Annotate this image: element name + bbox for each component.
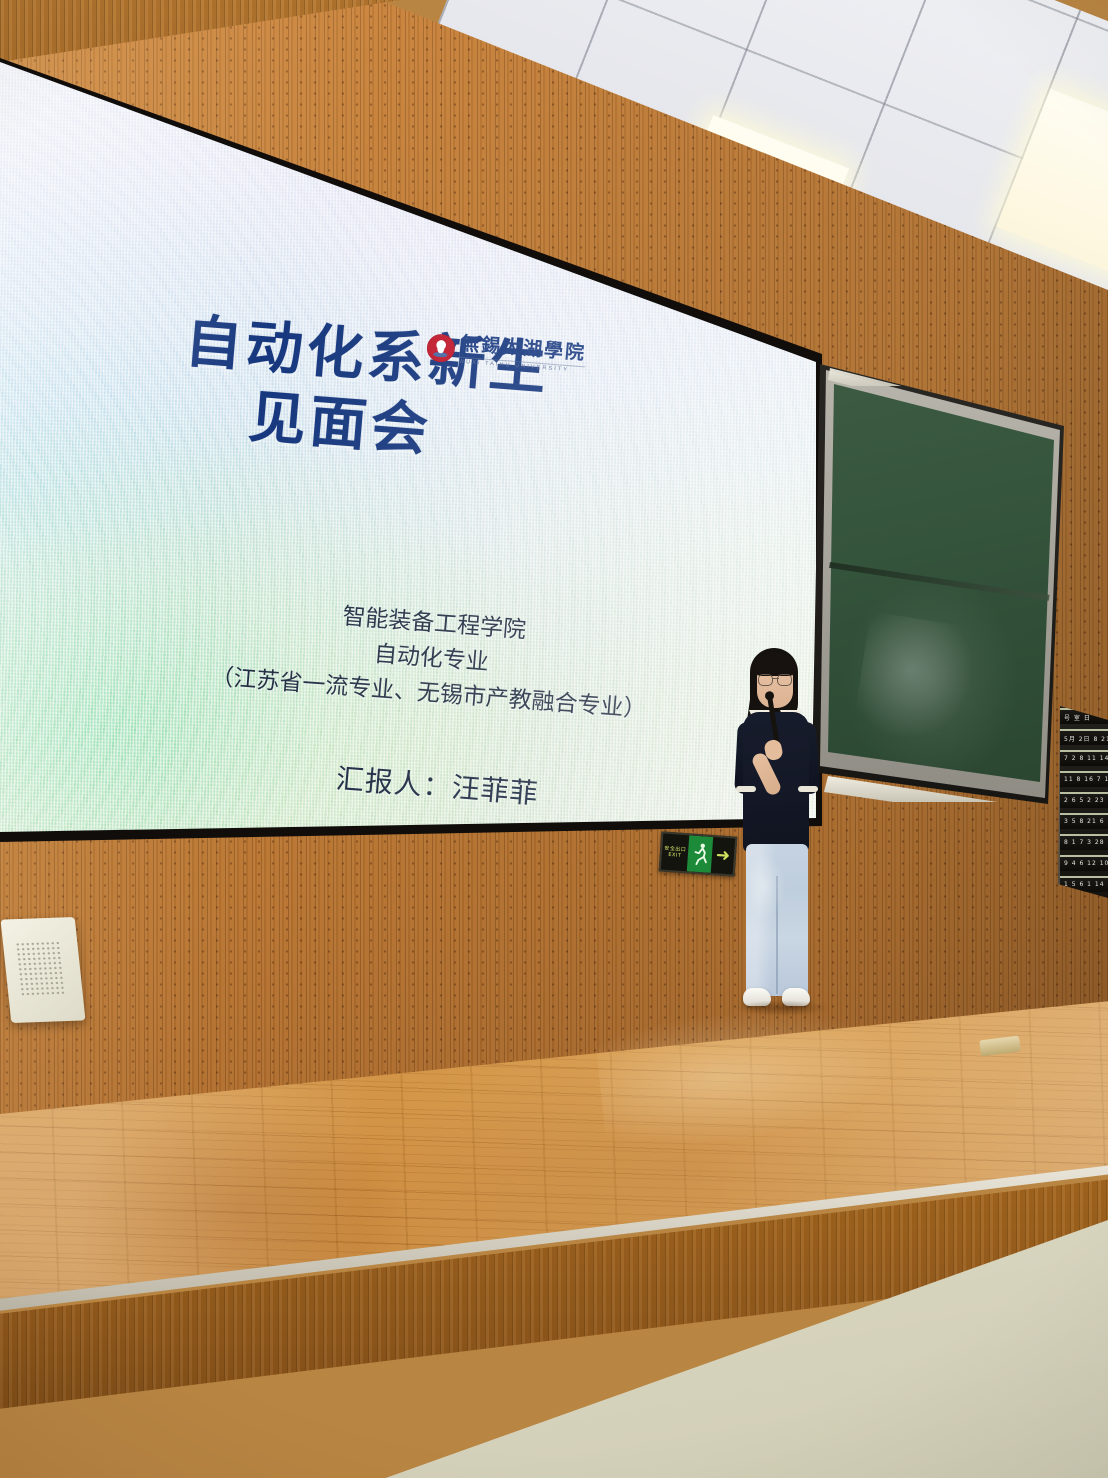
- university-crest-icon: [426, 333, 456, 363]
- schedule-board-row-text: 11 8 16 7 19: [1060, 773, 1108, 783]
- schedule-board-row: 3 5 8 21 6: [1060, 813, 1108, 829]
- schedule-board-row: 11 8 16 7 19: [1060, 771, 1108, 787]
- schedule-board-row-text: 1 5 6 1 14: [1060, 878, 1108, 888]
- schedule-board-row-text: 3 5 8 21 6: [1060, 815, 1108, 825]
- schedule-board-row-text: 5月 2日 8 21: [1060, 731, 1108, 743]
- schedule-board-row: 5月 2日 8 21: [1060, 729, 1108, 745]
- exit-sign-text-en: EXIT: [662, 851, 688, 859]
- schedule-board-row-text: 7 2 8 11 14: [1060, 752, 1108, 762]
- sleeve-cuff-left: [736, 786, 756, 792]
- slide-subtitle-block: 智能装备工程学院 自动化专业 （江苏省一流专业、无锡市产教融合专业）: [148, 585, 715, 732]
- slide-presenter-line: 汇报人：汪菲菲: [217, 748, 659, 821]
- auditorium-scene: 自动化系新生 见面会 無錫太湖學院 WUXI TAIHU UNIVERSITY …: [0, 0, 1108, 1478]
- glasses-icon: [757, 674, 793, 685]
- schedule-board-row: 8 1 7 3 28: [1060, 834, 1108, 850]
- schedule-board-row: 9 4 6 12 10: [1060, 855, 1108, 871]
- wall-schedule-board: 号 室 日5月 2日 8 217 2 8 11 1411 8 16 7 192 …: [1058, 702, 1108, 902]
- schedule-board-row-text: 8 1 7 3 28: [1060, 836, 1108, 846]
- schedule-board-row: 2 6 5 2 23: [1060, 792, 1108, 808]
- presenter: [724, 648, 834, 1018]
- wall-speaker: [0, 917, 85, 1023]
- jeans-highlight: [746, 844, 808, 996]
- hair-fringe: [754, 654, 796, 676]
- schedule-board-row: 7 2 8 11 14: [1060, 750, 1108, 766]
- schedule-board-row-text: 9 4 6 12 10: [1060, 857, 1108, 867]
- schedule-board-row-text: 2 6 5 2 23: [1060, 794, 1108, 804]
- blackboard-glare: [851, 611, 990, 758]
- sleeve-cuff-right: [798, 786, 818, 792]
- exit-sign-text: 安全出口 EXIT: [661, 834, 689, 872]
- running-person-icon: [687, 835, 713, 873]
